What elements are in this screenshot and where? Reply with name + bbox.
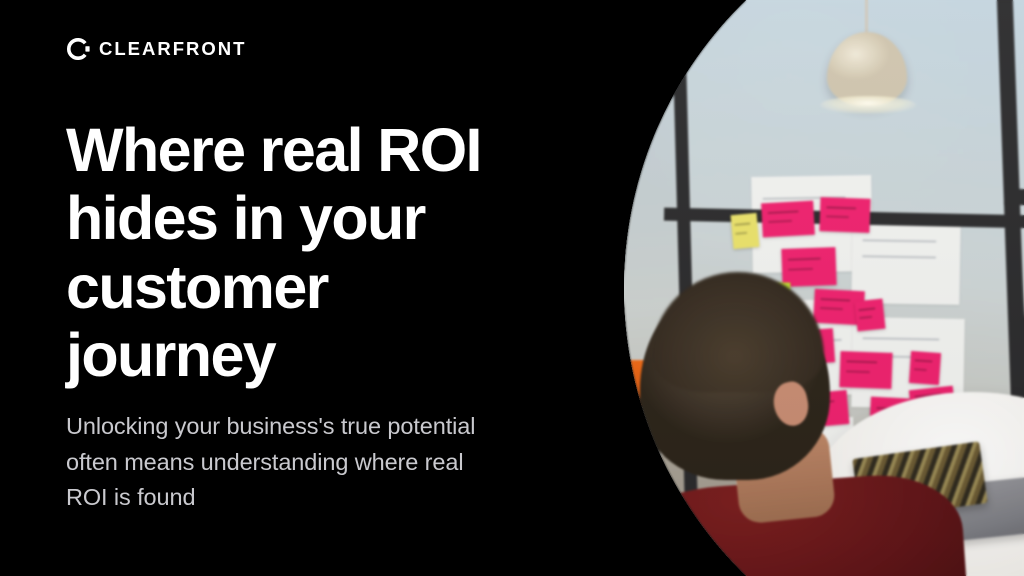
sticky-note [839, 351, 892, 389]
printed-sheet [851, 221, 960, 305]
hero-photo [624, 0, 1024, 576]
page-title: Where real ROI hides in your customer jo… [66, 116, 566, 389]
clearfront-c-mark-icon [66, 37, 90, 61]
pendant-lamp-glow [820, 96, 916, 114]
brand-name: CLEARFRONT [99, 40, 246, 59]
hero-photo-scene [624, 0, 1024, 576]
sticky-note [909, 351, 941, 385]
page-subtitle: Unlocking your business's true potential… [66, 409, 586, 516]
presentation-slide: CLEARFRONT Where real ROI hides in your … [0, 0, 1024, 576]
pendant-lamp-cord [865, 0, 868, 36]
sticky-note [781, 247, 836, 287]
sticky-note [761, 201, 815, 238]
brand-lockup: CLEARFRONT [66, 37, 246, 61]
sticky-note [819, 197, 870, 233]
sticky-note [855, 299, 886, 332]
sticky-note [731, 213, 760, 249]
text-column: CLEARFRONT Where real ROI hides in your … [66, 0, 626, 576]
